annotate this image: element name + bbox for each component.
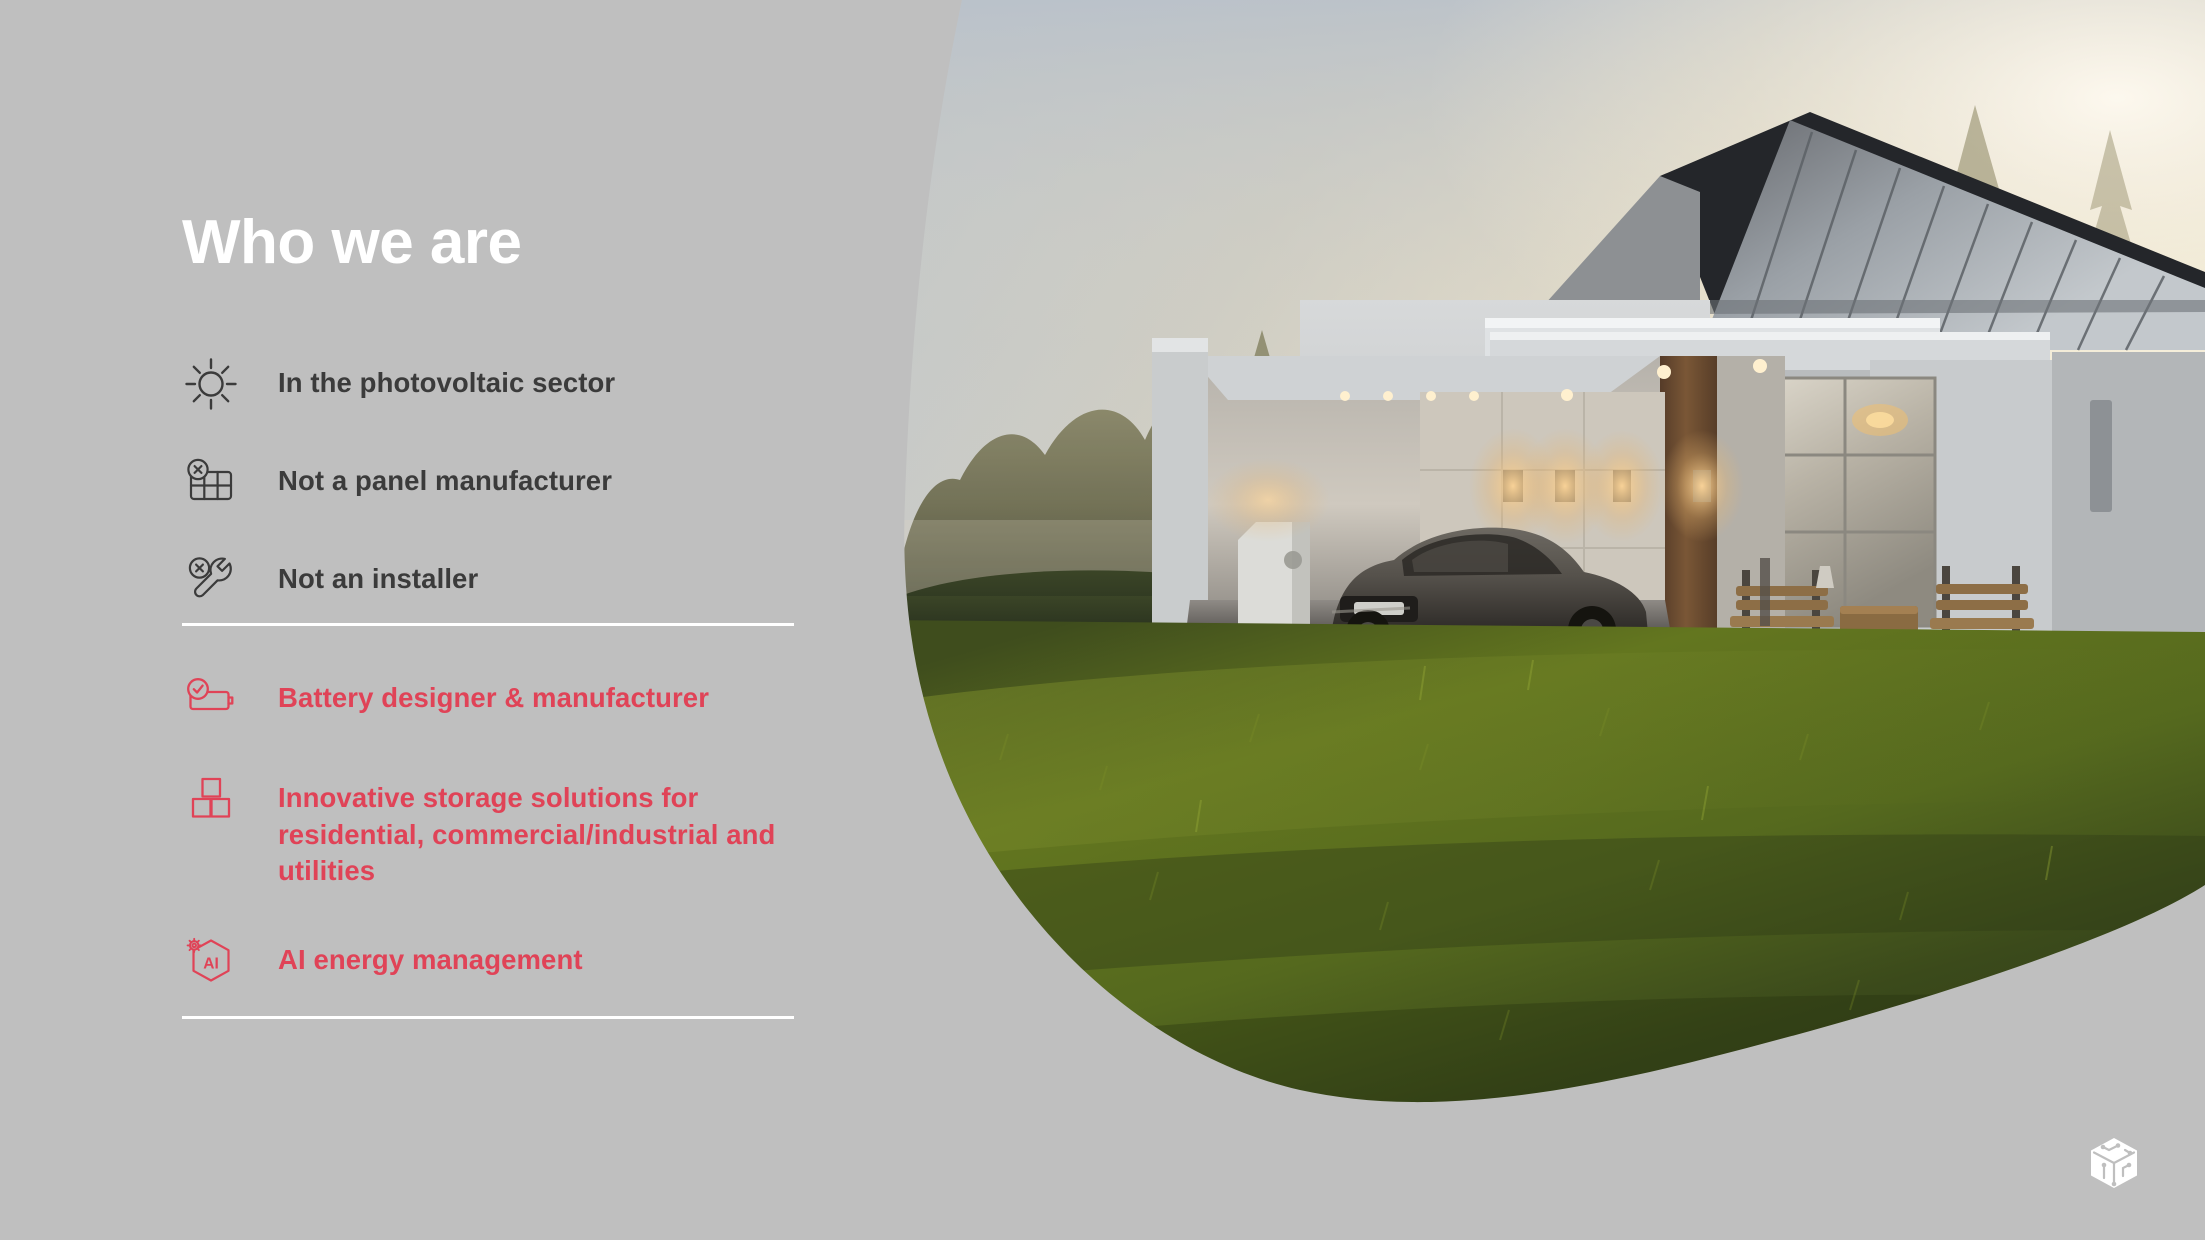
list-item[interactable]: Battery designer & manufacturer [182, 670, 802, 728]
list-item-label: AI energy management [278, 932, 583, 979]
group-what-we-are-not: In the photovoltaic sector [182, 355, 802, 609]
group-what-we-are: Battery designer & manufacturer Innovati… [182, 670, 802, 990]
divider-top [182, 623, 794, 626]
list-item-label: Not an installer [278, 551, 478, 598]
list-item-label: Not a panel manufacturer [278, 453, 612, 500]
solar-panel-x-icon [182, 453, 240, 511]
battery-check-icon [182, 670, 240, 728]
list-item[interactable]: Not an installer [182, 551, 802, 609]
wrench-x-icon [182, 551, 240, 609]
page-title: Who we are [182, 212, 522, 274]
list-item[interactable]: AI AI energy management [182, 932, 802, 990]
left-content-column: Who we are [182, 0, 822, 1240]
list-item[interactable]: Innovative storage solutions for residen… [182, 770, 802, 890]
cube-circuit-logo[interactable] [2085, 1134, 2143, 1192]
list-item-label: Battery designer & manufacturer [278, 670, 709, 717]
list-item-label: In the photovoltaic sector [278, 355, 615, 402]
slide-root: Who we are [0, 0, 2205, 1240]
sun-icon [182, 355, 240, 413]
list-item-label: Innovative storage solutions for residen… [278, 770, 802, 890]
list-item[interactable]: Not a panel manufacturer [182, 453, 802, 511]
svg-text:AI: AI [203, 955, 219, 972]
ai-hexagon-icon: AI [182, 932, 240, 990]
divider-bottom [182, 1016, 794, 1019]
feature-list: In the photovoltaic sector [182, 355, 802, 1019]
storage-blocks-icon [182, 770, 240, 828]
list-item[interactable]: In the photovoltaic sector [182, 355, 802, 413]
